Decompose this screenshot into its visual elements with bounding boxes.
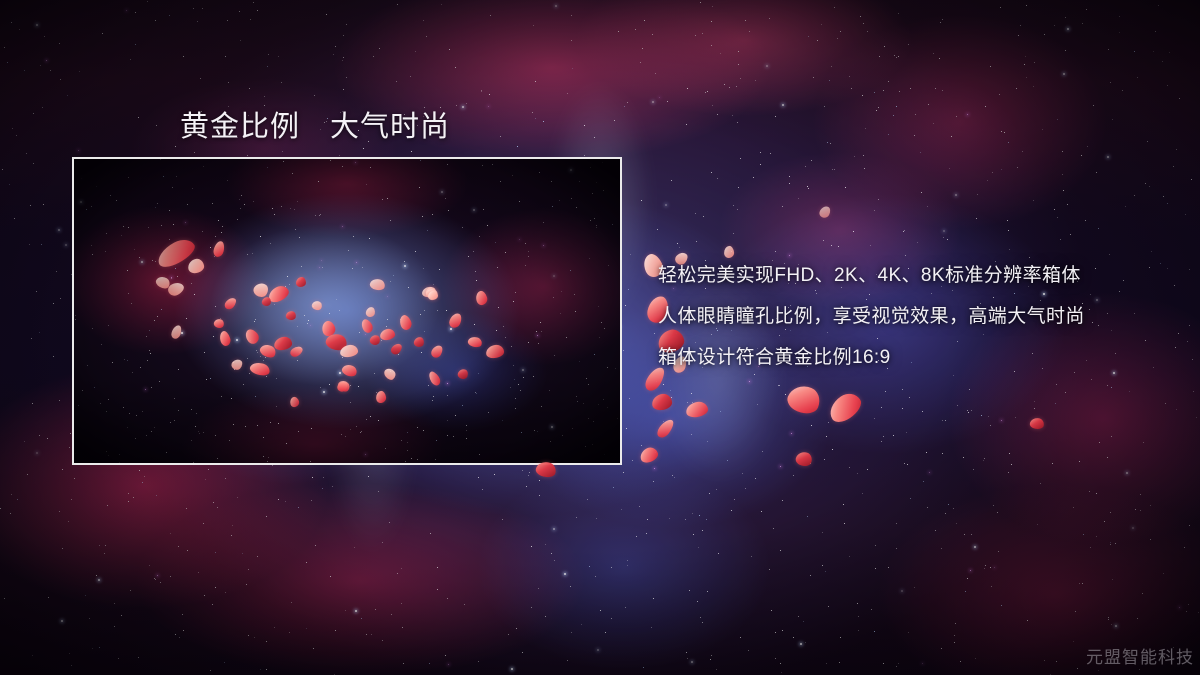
body-text-block: 轻松完美实现FHD、2K、4K、8K标准分辨率箱体 人体眼睛瞳孔比例，享受视觉效… <box>658 255 1158 378</box>
body-line: 人体眼睛瞳孔比例，享受视觉效果，高端大气时尚 <box>658 296 1158 337</box>
nebula-petals-photo <box>74 159 620 463</box>
photo-vignette <box>74 159 620 463</box>
company-watermark: 元盟智能科技 <box>1086 643 1194 668</box>
body-line: 箱体设计符合黄金比例16:9 <box>658 337 1158 378</box>
framed-product-image <box>72 157 622 465</box>
presentation-slide: 黄金比例 大气时尚 轻松完美实现FHD、2K、4K、8K标准分辨率箱体 人体眼睛… <box>0 0 1200 675</box>
body-line: 轻松完美实现FHD、2K、4K、8K标准分辨率箱体 <box>658 255 1158 296</box>
page-title: 黄金比例 大气时尚 <box>180 103 450 145</box>
